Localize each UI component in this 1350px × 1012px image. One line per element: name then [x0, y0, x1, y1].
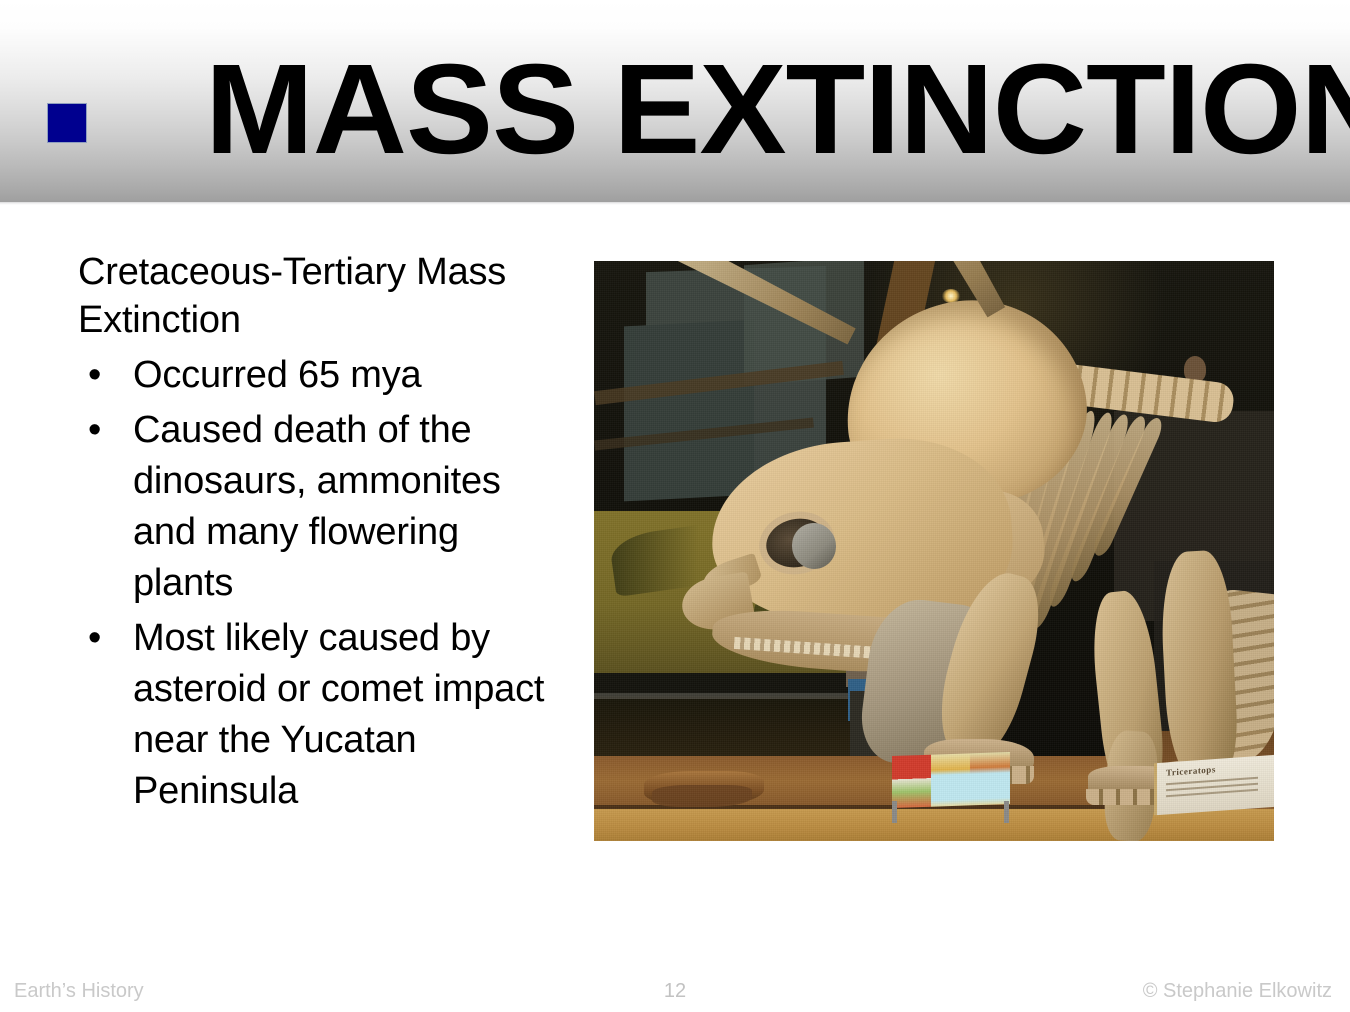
- footer-copyright: © Stephanie Elkowitz: [1143, 978, 1332, 1004]
- bullet-dot-icon: •: [88, 350, 101, 401]
- list-item: • Most likely caused by asteroid or come…: [78, 613, 568, 817]
- title-bullet-square-icon: [47, 103, 87, 143]
- photo-exhibit-panel: [931, 753, 970, 806]
- page-title: MASS EXTINCTIONS: [205, 42, 1337, 177]
- content-text-column: Cretaceous-Tertiary Mass Extinction • Oc…: [78, 248, 568, 821]
- photo-exhibit-leg: [1004, 801, 1009, 823]
- triceratops-photo: Triceratops: [594, 261, 1274, 841]
- bullet-list: • Occurred 65 mya • Caused death of the …: [78, 350, 568, 817]
- photo-exhibit-panel: [892, 755, 931, 808]
- photo-wall-panel: [624, 320, 754, 502]
- photo-exhibit-leg: [892, 801, 897, 823]
- title-band-edge: [0, 202, 1350, 205]
- list-item-text: Occurred 65 mya: [133, 354, 421, 396]
- list-item: • Occurred 65 mya: [78, 350, 568, 401]
- lead-paragraph: Cretaceous-Tertiary Mass Extinction: [78, 248, 568, 344]
- list-item: • Caused death of the dinosaurs, ammonit…: [78, 405, 568, 609]
- list-item-text: Caused death of the dinosaurs, ammonites…: [133, 409, 501, 604]
- photo-canvas: Triceratops: [594, 261, 1274, 841]
- bullet-dot-icon: •: [88, 613, 101, 664]
- photo-fossil-log: [652, 785, 752, 807]
- photo-exhibit-panel: [970, 752, 1010, 805]
- bullet-dot-icon: •: [88, 405, 101, 456]
- slide: MASS EXTINCTIONS Cretaceous-Tertiary Mas…: [0, 0, 1350, 1012]
- list-item-text: Most likely caused by asteroid or comet …: [133, 617, 544, 812]
- photo-exhibit-display: [892, 752, 1010, 808]
